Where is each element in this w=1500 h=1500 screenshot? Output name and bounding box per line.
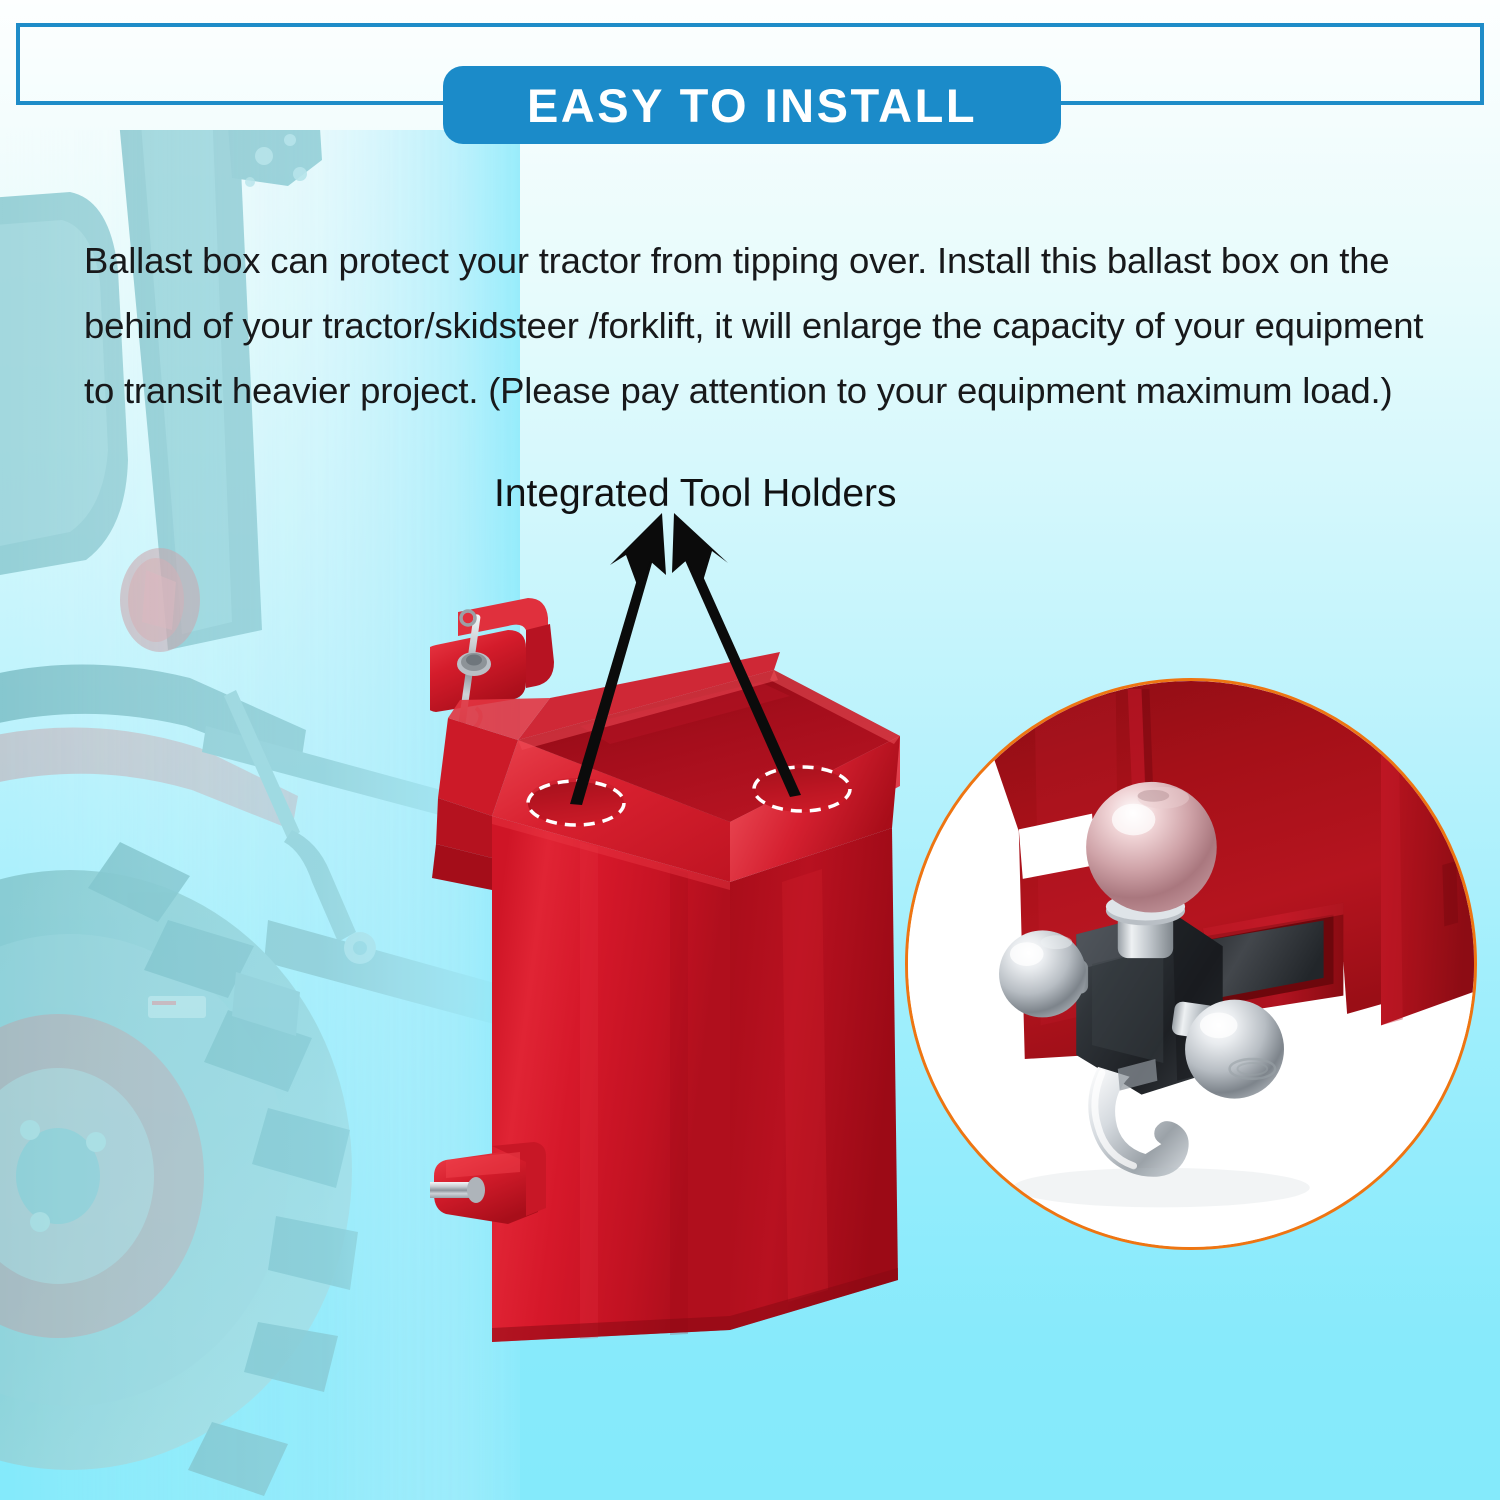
callout-arrows	[490, 505, 850, 825]
box-front-face	[492, 816, 730, 1342]
inset-detail-circle	[905, 678, 1477, 1250]
callout-arrow-right	[672, 513, 801, 797]
header-badge-label: EASY TO INSTALL	[527, 82, 977, 129]
callout-arrow-left	[570, 513, 666, 805]
description-paragraph: Ballast box can protect your tractor fro…	[84, 228, 1462, 423]
header-badge: EASY TO INSTALL	[443, 66, 1061, 144]
